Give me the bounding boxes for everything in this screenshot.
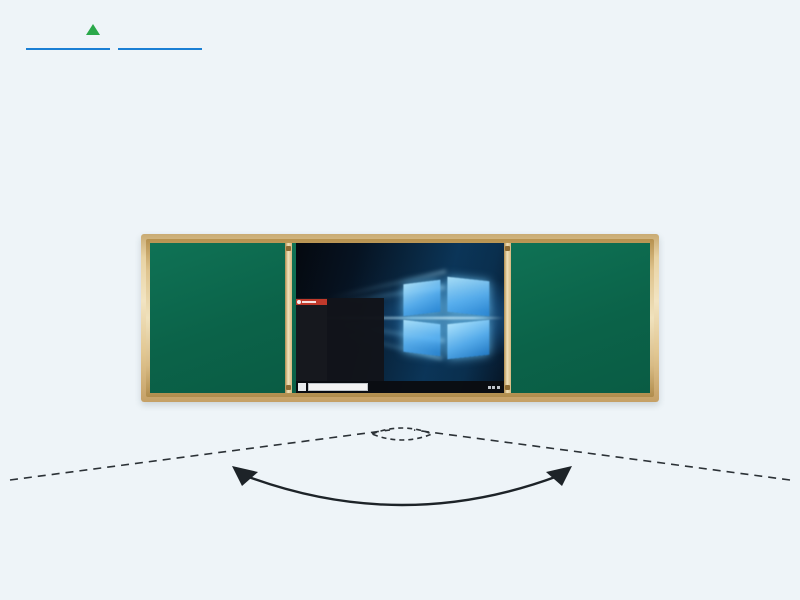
fvasee-logo [24, 6, 204, 62]
logo-rule-left [26, 48, 110, 50]
rail-stud-icon [286, 385, 291, 390]
taskbar-search-input[interactable] [308, 383, 368, 391]
blackboard-inner-frame [146, 239, 654, 397]
sightline-right [414, 430, 790, 480]
start-button-icon[interactable] [298, 383, 306, 391]
angle-arc [246, 476, 558, 505]
arrowhead-right [546, 466, 572, 486]
green-chalkboard-panel-right[interactable] [504, 243, 650, 393]
start-menu-section-label [296, 306, 327, 307]
tray-volume-icon[interactable] [492, 386, 495, 389]
rail-stud-icon [286, 246, 291, 251]
viewing-angle-diagram [0, 408, 800, 538]
blackboard-sliding-track [150, 243, 650, 393]
logo-triangle-accent [86, 24, 100, 35]
windows-taskbar[interactable] [296, 381, 504, 393]
green-chalkboard-panel-left[interactable] [150, 243, 296, 393]
start-menu[interactable] [296, 298, 384, 381]
sightline-left [10, 430, 390, 480]
logo-rule-right [118, 48, 202, 50]
start-menu-tile-area[interactable] [327, 298, 384, 381]
smart-blackboard [141, 234, 659, 402]
user-avatar [297, 300, 301, 304]
windows-logo-icon [404, 279, 490, 357]
start-menu-sidebar [296, 298, 327, 381]
tray-battery-icon[interactable] [497, 386, 500, 389]
tray-network-icon[interactable] [488, 386, 491, 389]
rail-stud-icon [505, 246, 510, 251]
panel-slide-rail-right [504, 243, 511, 393]
interactive-display-screen[interactable] [296, 243, 504, 393]
system-tray[interactable] [488, 386, 503, 389]
arrowhead-left [232, 466, 258, 486]
user-name-label [302, 301, 316, 303]
logo-subtitle [26, 39, 202, 59]
viewer-apex-marker [372, 428, 432, 440]
panel-slide-rail-left [285, 243, 292, 393]
rail-stud-icon [505, 385, 510, 390]
